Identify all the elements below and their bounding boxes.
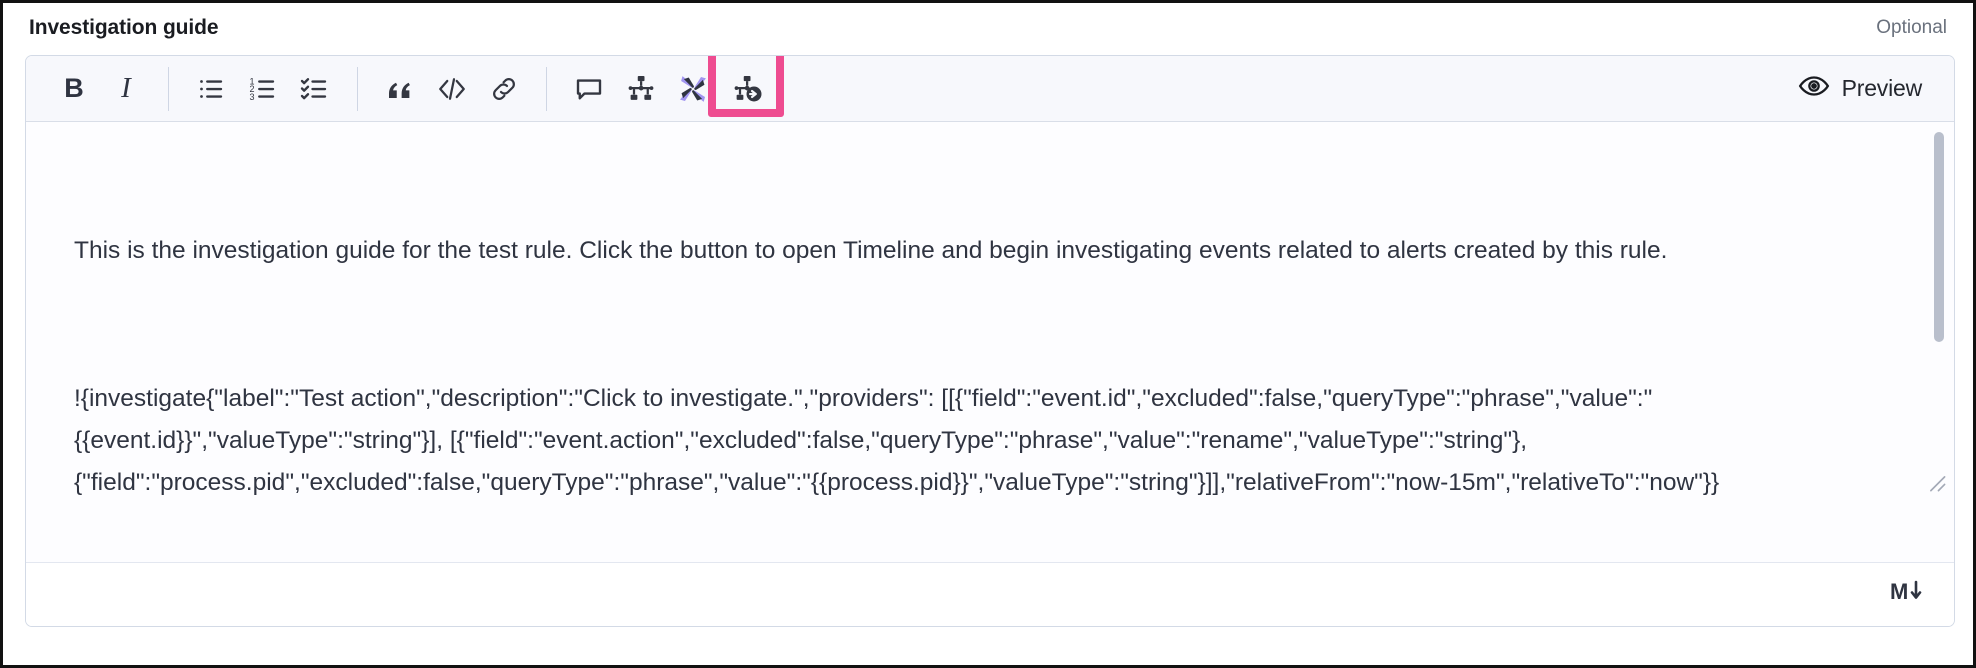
unordered-list-button[interactable] bbox=[185, 63, 237, 115]
markdown-syntax-button[interactable]: M bbox=[1890, 579, 1930, 610]
task-list-icon bbox=[300, 74, 330, 104]
quote-button[interactable] bbox=[374, 63, 426, 115]
italic-button[interactable]: I bbox=[100, 63, 152, 115]
markdown-textarea[interactable]: This is the investigation guide for the … bbox=[26, 122, 1954, 562]
guide-paragraph-1: This is the investigation guide for the … bbox=[74, 230, 1894, 272]
toolbar-divider-2 bbox=[357, 67, 358, 111]
investigate-action-button[interactable] bbox=[721, 63, 773, 115]
bold-button[interactable]: B bbox=[48, 63, 100, 115]
toolbar-divider-3 bbox=[546, 67, 547, 111]
investigation-guide-panel: Investigation guide Optional B I bbox=[0, 0, 1976, 668]
ordered-list-button[interactable]: 1 2 3 bbox=[237, 63, 289, 115]
svg-text:M: M bbox=[1890, 579, 1908, 604]
guide-paragraph-2: !{investigate{"label":"Test action","des… bbox=[74, 378, 1894, 504]
osquery-button[interactable] bbox=[615, 63, 667, 115]
markdown-editor: B I bbox=[25, 55, 1955, 627]
markdown-icon: M bbox=[1890, 579, 1930, 610]
markdown-toolbar: B I bbox=[26, 56, 1954, 122]
comment-icon bbox=[574, 74, 604, 104]
page-title: Investigation guide bbox=[29, 16, 218, 40]
editor-footer: M bbox=[26, 562, 1954, 626]
field-header: Investigation guide Optional bbox=[3, 3, 1973, 53]
eye-icon bbox=[1798, 70, 1830, 107]
investigate-node-arrow-icon bbox=[732, 74, 762, 104]
quote-icon bbox=[385, 74, 415, 104]
textarea-scrollbar-thumb[interactable] bbox=[1934, 132, 1944, 342]
markdown-text-content: This is the investigation guide for the … bbox=[26, 122, 1954, 562]
code-icon bbox=[437, 74, 467, 104]
italic-label: I bbox=[121, 74, 131, 103]
timeline-button[interactable] bbox=[667, 63, 719, 115]
link-icon bbox=[489, 74, 519, 104]
code-button[interactable] bbox=[426, 63, 478, 115]
unordered-list-icon bbox=[196, 74, 226, 104]
comment-button[interactable] bbox=[563, 63, 615, 115]
toolbar-divider-1 bbox=[168, 67, 169, 111]
bold-label: B bbox=[64, 75, 84, 102]
investigate-action-button-wrapper bbox=[721, 63, 773, 115]
ordered-list-icon: 1 2 3 bbox=[248, 74, 278, 104]
link-button[interactable] bbox=[478, 63, 530, 115]
textarea-resize-handle[interactable] bbox=[1924, 470, 1946, 492]
preview-button[interactable]: Preview bbox=[1788, 64, 1936, 113]
node-tree-icon bbox=[626, 74, 656, 104]
timeline-pinwheel-icon bbox=[677, 73, 709, 105]
svg-text:3: 3 bbox=[250, 91, 255, 101]
task-list-button[interactable] bbox=[289, 63, 341, 115]
preview-label: Preview bbox=[1842, 75, 1922, 102]
optional-badge: Optional bbox=[1876, 17, 1947, 39]
